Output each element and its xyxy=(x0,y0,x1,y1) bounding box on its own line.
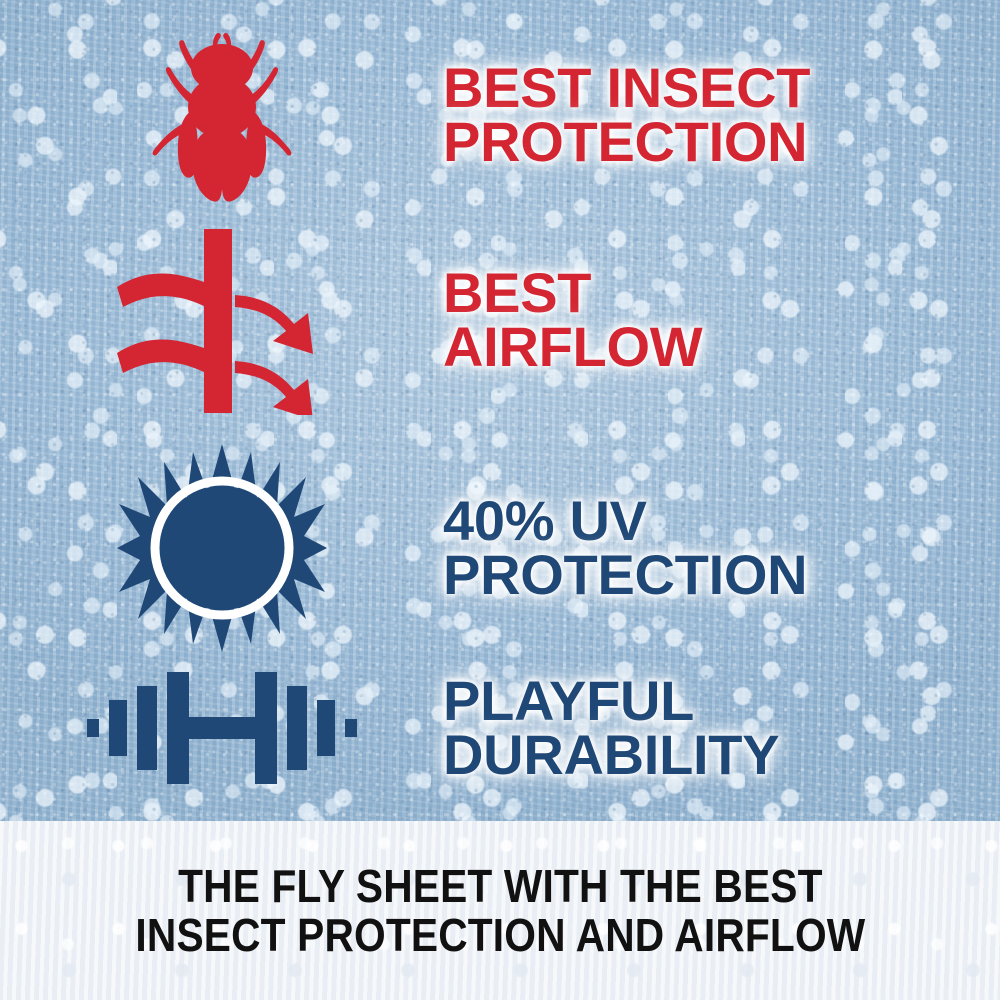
fly-icon xyxy=(147,27,297,203)
caption-text: THE FLY SHEET WITH THE BEST INSECT PROTE… xyxy=(135,862,865,960)
dumbbell-icon-cell xyxy=(0,648,443,808)
feature-label-insect-protection: BEST INSECT PROTECTION xyxy=(443,61,810,170)
feature-label-airflow: BEST AIRFLOW xyxy=(443,266,702,375)
fabric-background-photo: BEST INSECT PROTECTION xyxy=(0,0,1000,821)
feature-row-durability: PLAYFUL DURABILITY xyxy=(0,648,1000,808)
feature-label-durability: PLAYFUL DURABILITY xyxy=(443,674,779,783)
feature-row-airflow: BEST AIRFLOW xyxy=(0,222,1000,418)
sun-icon xyxy=(117,442,327,654)
fly-icon-cell xyxy=(0,26,443,204)
feature-label-uv-protection: 40% UV PROTECTION xyxy=(443,494,807,603)
infographic-poster: BEST INSECT PROTECTION xyxy=(0,0,1000,1000)
feature-row-insect-protection: BEST INSECT PROTECTION xyxy=(0,26,1000,204)
airflow-arrows-icon xyxy=(111,225,333,415)
airflow-icon-cell xyxy=(0,222,443,418)
sun-icon-cell xyxy=(0,438,443,658)
feature-row-uv-protection: 40% UV PROTECTION xyxy=(0,438,1000,658)
dumbbell-icon xyxy=(87,663,357,793)
caption-bar: THE FLY SHEET WITH THE BEST INSECT PROTE… xyxy=(0,821,1000,1000)
